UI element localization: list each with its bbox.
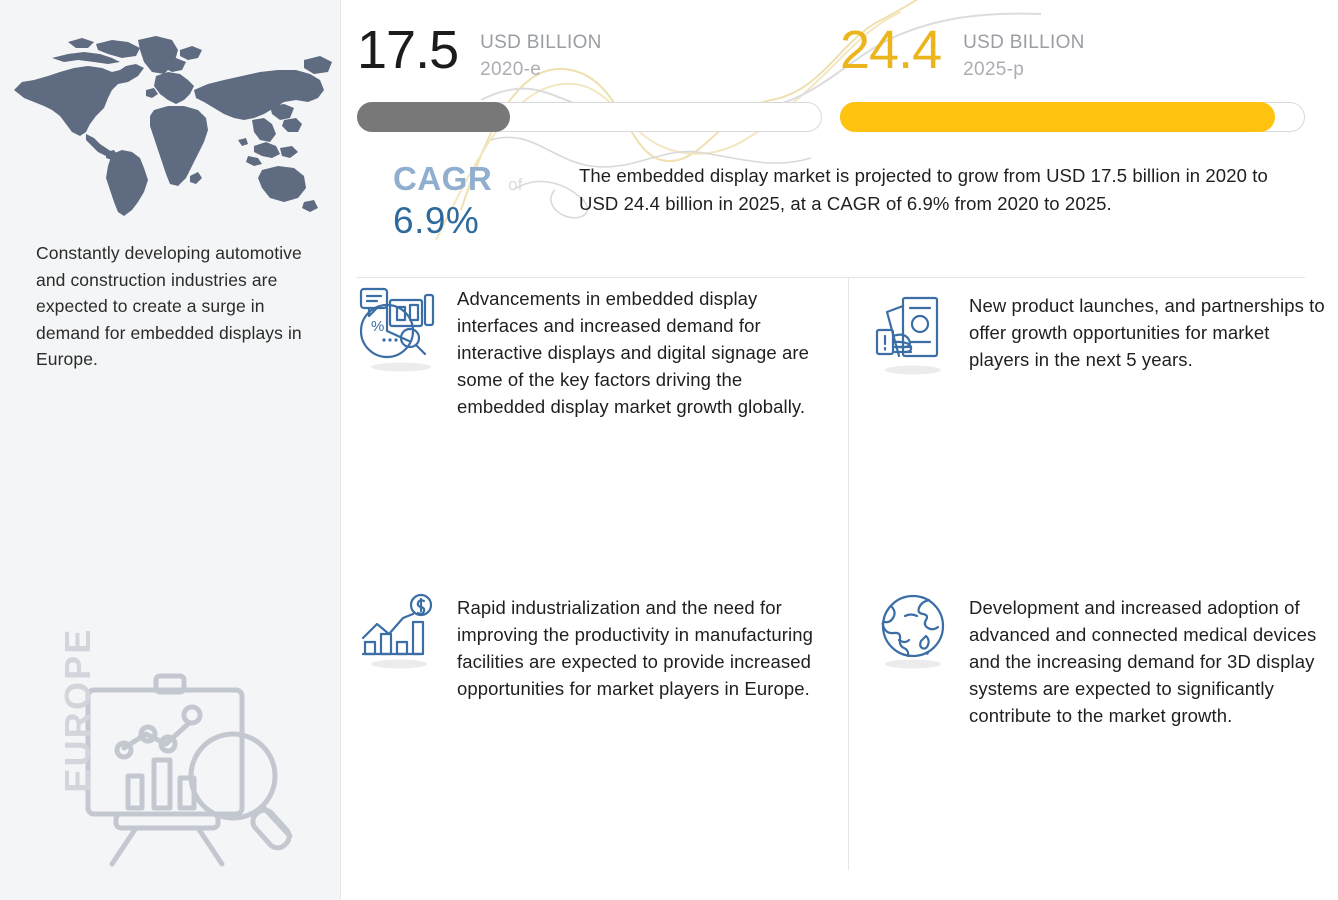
driver-text-4: Development and increased adoption of ad… [969, 592, 1327, 729]
globe-icon [869, 592, 961, 684]
stat-2020: 17.5 USD BILLION 2020-e [357, 18, 822, 132]
driver-item-4: Development and increased adoption of ad… [869, 592, 1329, 729]
left-panel: Constantly developing automotive and con… [0, 0, 341, 900]
horizontal-divider [357, 277, 1305, 278]
stat-2020-unit: USD BILLION [480, 30, 602, 56]
driver-item-3: Rapid industrialization and the need for… [357, 592, 827, 702]
stat-2020-year: 2020-e [480, 56, 602, 84]
pie-chart-analysis-icon: % [357, 283, 449, 375]
stat-2025-unit: USD BILLION [963, 30, 1085, 56]
left-panel-caption: Constantly developing automotive and con… [36, 240, 311, 373]
infographic-root: Constantly developing automotive and con… [0, 0, 1338, 900]
svg-text:%: % [371, 318, 384, 335]
cagr-connector: of [508, 175, 522, 195]
stat-2025-bar-track [840, 102, 1305, 132]
driver-text-1: Advancements in embedded display interfa… [457, 283, 825, 420]
region-label: EUROPE [58, 615, 98, 805]
stat-2025-year: 2025-p [963, 56, 1085, 84]
stat-2020-bar-fill [357, 102, 510, 132]
summary-text: The embedded display market is projected… [579, 162, 1299, 218]
cagr-label: CAGR [393, 160, 492, 198]
growth-bar-chart-dollar-icon [357, 592, 449, 684]
driver-item-1: % Advancements in embedded display inter… [357, 283, 827, 420]
driver-text-2: New product launches, and partnerships t… [969, 290, 1327, 382]
vertical-divider [848, 278, 849, 870]
stat-2025-value: 24.4 [840, 18, 941, 82]
stat-2020-bar-track [357, 102, 822, 132]
stat-2020-value: 17.5 [357, 18, 458, 82]
driver-text-3: Rapid industrialization and the need for… [457, 592, 815, 702]
main-panel: 17.5 USD BILLION 2020-e 24.4 USD BILLION… [341, 0, 1338, 900]
driver-item-2: New product launches, and partnerships t… [869, 290, 1329, 382]
cagr-value: 6.9% [393, 198, 583, 244]
stat-2025-bar-fill [840, 102, 1275, 132]
hand-money-icon [869, 290, 961, 382]
stat-2025: 24.4 USD BILLION 2025-p [840, 18, 1305, 132]
world-map-icon [8, 28, 338, 223]
cagr-block: CAGR of 6.9% [393, 160, 583, 244]
stats-row: 17.5 USD BILLION 2020-e 24.4 USD BILLION… [341, 0, 1338, 160]
